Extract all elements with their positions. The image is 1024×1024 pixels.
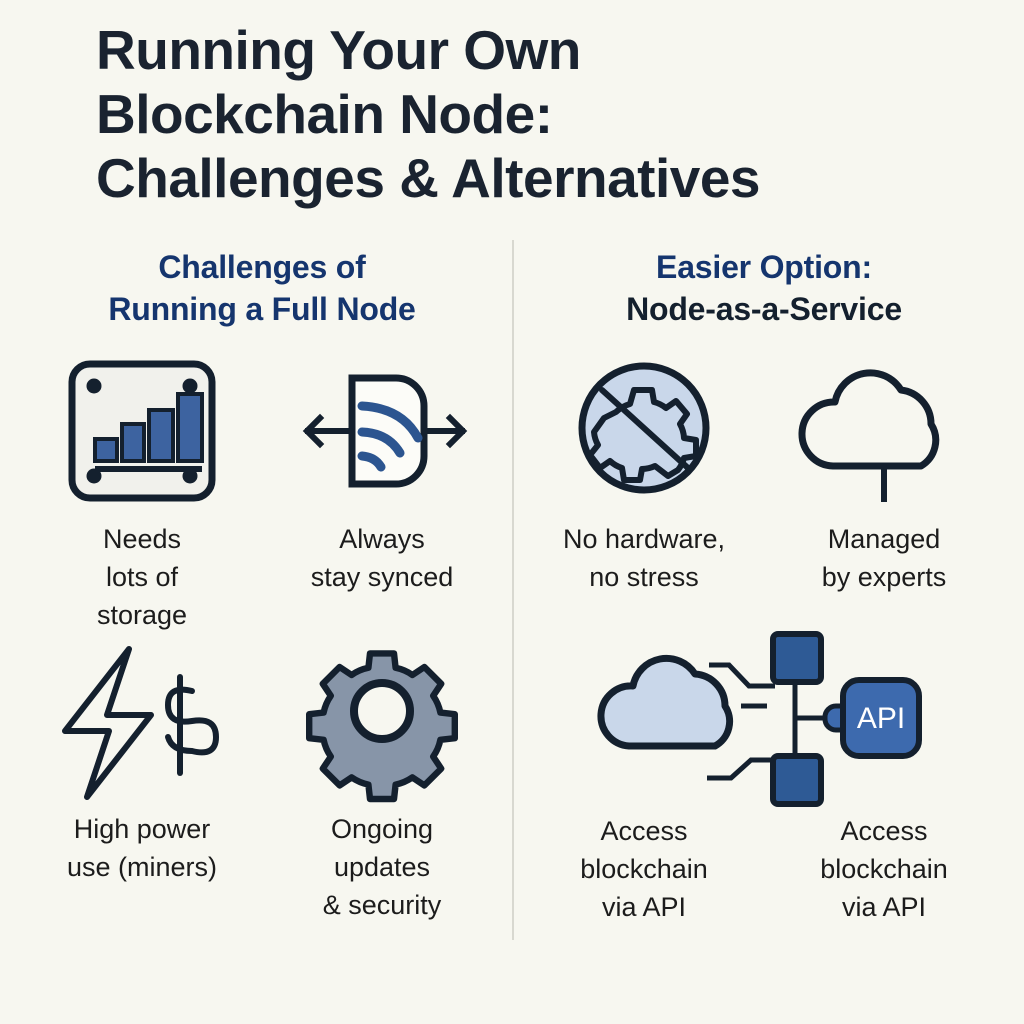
- item-no-hardware: No hardware, no stress: [524, 346, 764, 596]
- left-items-row-1: Needs lots of storage Always stay synced: [22, 346, 502, 634]
- title-line-3: Challenges & Alternatives: [96, 146, 956, 210]
- left-heading-line-1: Challenges of: [22, 246, 502, 288]
- right-heading-line-2: Node-as-a-Service: [524, 288, 1004, 330]
- item-access-via-api-right: Access blockchain via API: [764, 808, 1004, 926]
- right-row-2-labels: Access blockchain via API Access blockch…: [524, 808, 1004, 926]
- sync-wifi-arrows-icon: [294, 346, 470, 516]
- left-column-heading: Challenges of Running a Full Node: [22, 246, 502, 330]
- item-label: Managed by experts: [822, 520, 947, 596]
- hard-drive-storage-icon: [54, 346, 230, 516]
- item-stay-synced: Always stay synced: [262, 346, 502, 634]
- right-items-row-1: No hardware, no stress Managed by expert…: [524, 346, 1004, 596]
- item-label: Access blockchain via API: [820, 812, 948, 926]
- page-title: Running Your Own Blockchain Node: Challe…: [96, 18, 956, 210]
- no-hardware-slashed-gear-icon: [556, 346, 732, 516]
- item-ongoing-updates: Ongoing updates & security: [262, 636, 502, 924]
- left-items-row-2: High power use (miners) Ongoing updates …: [22, 636, 502, 924]
- item-needs-storage: Needs lots of storage: [22, 346, 262, 634]
- column-divider: [512, 240, 514, 940]
- title-line-2: Blockchain Node:: [96, 82, 956, 146]
- infographic-canvas: Running Your Own Blockchain Node: Challe…: [0, 0, 1024, 1024]
- item-label: Always stay synced: [311, 520, 454, 596]
- item-label: No hardware, no stress: [563, 520, 725, 596]
- left-column: Challenges of Running a Full Node: [22, 246, 502, 340]
- item-high-power-use: High power use (miners): [22, 636, 262, 924]
- right-items-row-2: API Access blockchain via API Access blo…: [524, 618, 1004, 926]
- item-label: Ongoing updates & security: [323, 810, 442, 924]
- right-column-heading: Easier Option: Node-as-a-Service: [524, 246, 1004, 330]
- item-managed-by-experts: Managed by experts: [764, 346, 1004, 596]
- left-heading-line-2: Running a Full Node: [22, 288, 502, 330]
- item-label: Needs lots of storage: [97, 520, 187, 634]
- gear-icon: [294, 636, 470, 806]
- right-column: Easier Option: Node-as-a-Service: [524, 246, 1004, 340]
- right-heading-line-1: Easier Option:: [524, 246, 1004, 288]
- item-label: High power use (miners): [67, 810, 217, 886]
- api-badge-label: API: [857, 702, 905, 735]
- item-access-via-api-left: Access blockchain via API: [524, 808, 764, 926]
- cloud-api-network-icon: API: [524, 618, 1004, 808]
- title-line-1: Running Your Own: [96, 18, 956, 82]
- cloud-outline-icon: [789, 346, 979, 516]
- lightning-bolt-dollar-icon: [47, 636, 237, 806]
- item-label: Access blockchain via API: [580, 812, 708, 926]
